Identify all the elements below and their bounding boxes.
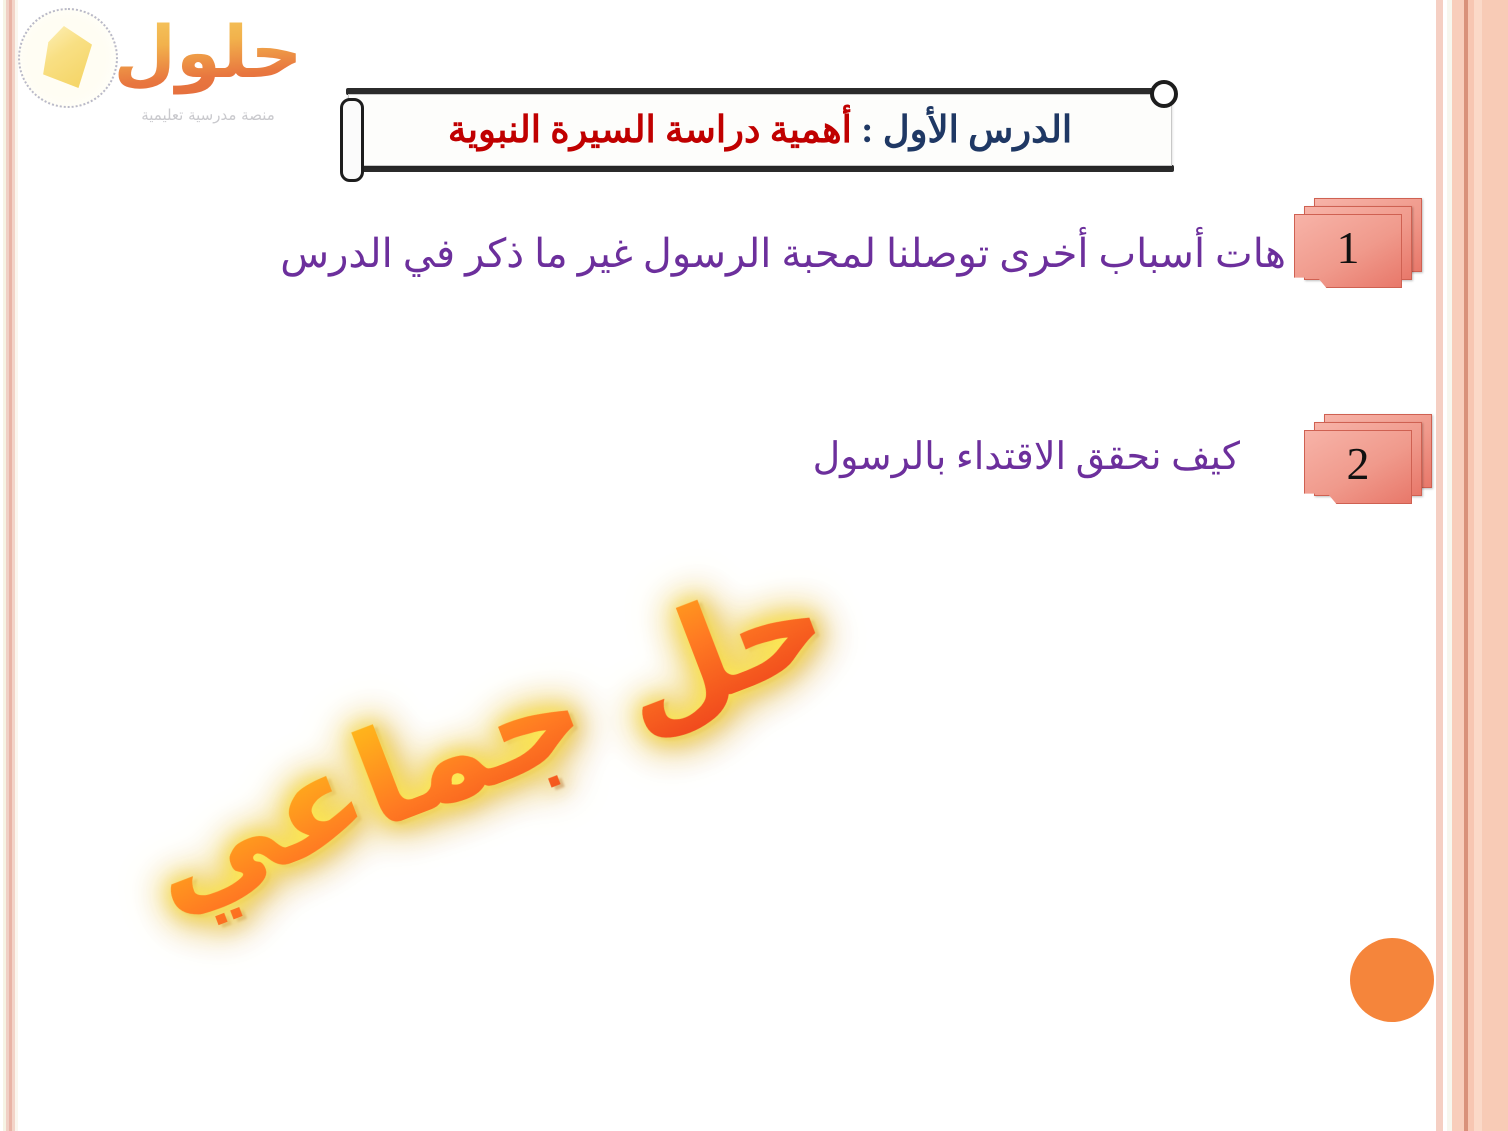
slide-canvas: حلول منصة مدرسية تعليمية الدرس الأول : أ… [0, 0, 1508, 1131]
wordart-text: حل جماعي [124, 540, 847, 940]
group-solution-wordart: حل جماعي [165, 505, 807, 974]
banner-bottom-bar [346, 165, 1174, 172]
scroll-rod-icon [340, 98, 364, 182]
question-number-1: 1 [1337, 225, 1360, 277]
page-title-lead: الدرس الأول : [852, 110, 1072, 151]
card-front: 2 [1304, 430, 1412, 504]
site-logo: حلول منصة مدرسية تعليمية [8, 2, 308, 140]
circle-diamond-logo-icon [18, 8, 118, 108]
card-front: 1 [1294, 214, 1402, 288]
page-title: الدرس الأول : أهمية دراسة السيرة النبوية [448, 108, 1072, 152]
page-title-main: أهمية دراسة السيرة النبوية [448, 110, 852, 151]
question-number-badge-1: 1 [1296, 198, 1422, 290]
scroll-knob-icon [1150, 80, 1178, 108]
question-text-2: كيف نحقق الاقتداء بالرسول [640, 432, 1240, 482]
question-number-2: 2 [1347, 441, 1370, 493]
question-number-badge-2: 2 [1306, 414, 1432, 506]
right-border-stripe [1432, 0, 1508, 1131]
question-text-1: هات أسباب أخرى توصلنا لمحبة الرسول غير م… [276, 228, 1286, 281]
logo-wordmark: حلول [108, 4, 308, 100]
orange-circle-decoration [1350, 938, 1434, 1022]
logo-subtitle: منصة مدرسية تعليمية [100, 106, 316, 124]
left-border-stripe [0, 0, 22, 1131]
banner-sheet: الدرس الأول : أهمية دراسة السيرة النبوية [348, 94, 1172, 166]
lesson-title-banner: الدرس الأول : أهمية دراسة السيرة النبوية [336, 86, 1184, 176]
